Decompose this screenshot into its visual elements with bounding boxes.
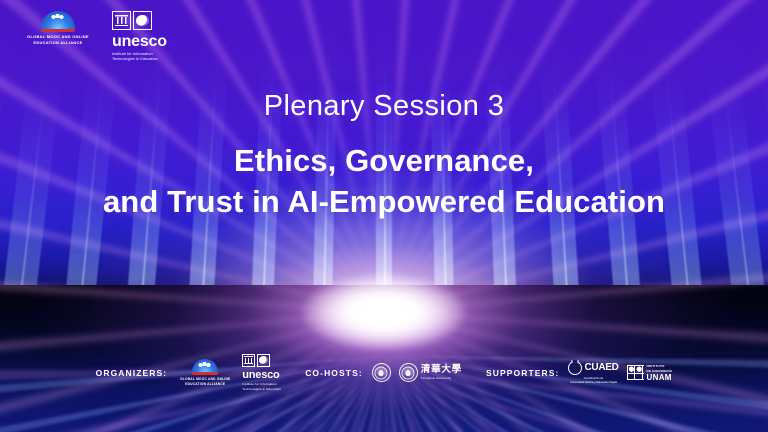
unam-wordmark: UNAM: [647, 374, 673, 382]
gmoea-logo-text: GLOBAL MOOC AND ONLINE EDUCATION ALLIANC…: [176, 377, 234, 387]
unesco-temple-icon: [242, 354, 255, 367]
cuaed-subtitle: Coordinación de Universidad Abierta y Ed…: [570, 377, 617, 385]
unesco-logo: unesco Institute for Information Technol…: [242, 354, 281, 392]
slide-background: GLOBAL MOOC AND ONLINE EDUCATION ALLIANC…: [0, 0, 768, 432]
unam-grid-icon: [627, 365, 644, 380]
tsinghua-chinese-name: 清華大學: [421, 365, 462, 375]
header-logos: GLOBAL MOOC AND ONLINE EDUCATION ALLIANC…: [22, 11, 167, 63]
headline-line-2: and Trust in AI-Empowered Education: [0, 181, 768, 222]
unesco-wordmark: unesco: [112, 34, 167, 50]
unesco-emblem: [242, 354, 270, 367]
headline-line-1: Ethics, Governance,: [0, 140, 768, 181]
footer-group-organizers: ORGANIZERS: GLOBAL MOOC AND ONLINE EDUCA…: [96, 354, 282, 392]
unam-logo: INSTITUTO DE INGENIERÍA UNAM: [627, 364, 673, 382]
unesco-emblem: [112, 11, 152, 30]
footer-credits: ORGANIZERS: GLOBAL MOOC AND ONLINE EDUCA…: [0, 354, 768, 392]
cuaed-logo: CUAED Coordinación de Universidad Abiert…: [568, 361, 618, 385]
burst-core: [299, 273, 469, 351]
gmoea-logo: GLOBAL MOOC AND ONLINE EDUCATION ALLIANC…: [176, 359, 234, 387]
organizers-logos: GLOBAL MOOC AND ONLINE EDUCATION ALLIANC…: [176, 354, 281, 392]
organizers-label: ORGANIZERS:: [96, 368, 168, 378]
tsinghua-university-logo: 清華大學 Tsinghua University: [399, 363, 462, 382]
unam-text: INSTITUTO DE INGENIERÍA UNAM: [647, 364, 673, 382]
tsinghua-english-name: Tsinghua University: [421, 376, 462, 380]
unesco-wordmark: unesco: [242, 370, 279, 381]
unesco-subtitle: Institute for Information Technologies i…: [242, 382, 281, 392]
unesco-logo: unesco Institute for Information Technol…: [112, 11, 167, 63]
session-kicker: Plenary Session 3: [0, 90, 768, 123]
unesco-globe-icon: [133, 11, 152, 30]
cohosts-label: CO-HOSTS:: [305, 368, 363, 378]
cohosts-logos: 清華大學 Tsinghua University: [372, 363, 462, 382]
supporters-label: SUPPORTERS:: [486, 368, 560, 378]
gmoea-dome-icon: [41, 11, 75, 32]
tsinghua-seal-icon: [399, 363, 418, 382]
unam-institute-name: INSTITUTO DE INGENIERÍA: [647, 364, 673, 374]
supporters-logos: CUAED Coordinación de Universidad Abiert…: [568, 361, 672, 385]
unesco-temple-icon: [112, 11, 131, 30]
cuaed-wordmark: CUAED: [584, 363, 618, 373]
gmoea-logo-text: GLOBAL MOOC AND ONLINE EDUCATION ALLIANC…: [22, 34, 94, 46]
footer-group-supporters: SUPPORTERS: CUAED Coordinación de Univer…: [486, 361, 672, 385]
cuaed-ring-icon: [568, 361, 582, 375]
footer-group-cohosts: CO-HOSTS: 清華大學 Tsinghua University: [305, 363, 462, 382]
gmoea-dome-icon: [192, 359, 218, 375]
unesco-subtitle: Institute for Information Technologies i…: [112, 52, 158, 64]
unesco-globe-icon: [257, 354, 270, 367]
cuaed-row: CUAED: [568, 361, 618, 375]
session-headline: Ethics, Governance, and Trust in AI-Empo…: [0, 140, 768, 222]
university-seal-icon: [372, 363, 391, 382]
gmoea-logo: GLOBAL MOOC AND ONLINE EDUCATION ALLIANC…: [22, 11, 94, 46]
